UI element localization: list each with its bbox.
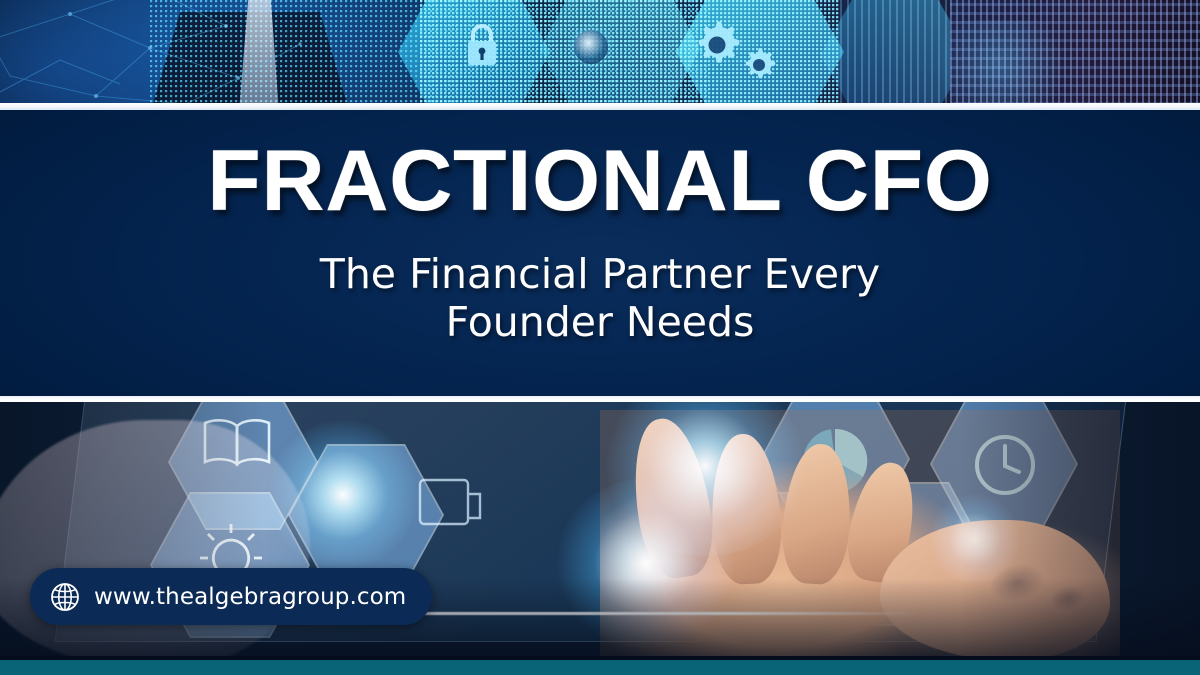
subtitle: The Financial Partner Every Founder Need…	[320, 250, 880, 347]
website-url-text: www.thealgebragroup.com	[94, 584, 406, 610]
padlock-icon	[465, 22, 499, 68]
top-divider	[0, 103, 1200, 110]
footer-bar	[0, 660, 1200, 675]
poster-canvas: FRACTIONAL CFO The Financial Partner Eve…	[0, 0, 1200, 675]
page-title: FRACTIONAL CFO	[207, 138, 992, 224]
subtitle-line-2: Founder Needs	[320, 298, 880, 346]
gear-icon	[740, 46, 778, 84]
bottom-divider	[0, 396, 1200, 402]
website-url-badge[interactable]: www.thealgebragroup.com	[30, 568, 432, 625]
hologram-node-icon	[574, 30, 608, 64]
subtitle-line-1: The Financial Partner Every	[320, 250, 880, 298]
headline-band: FRACTIONAL CFO The Financial Partner Eve…	[0, 110, 1200, 396]
globe-icon	[50, 582, 80, 612]
blue-glow	[920, 20, 1080, 105]
gear-icon	[690, 18, 744, 72]
top-hero-image	[0, 0, 1200, 105]
